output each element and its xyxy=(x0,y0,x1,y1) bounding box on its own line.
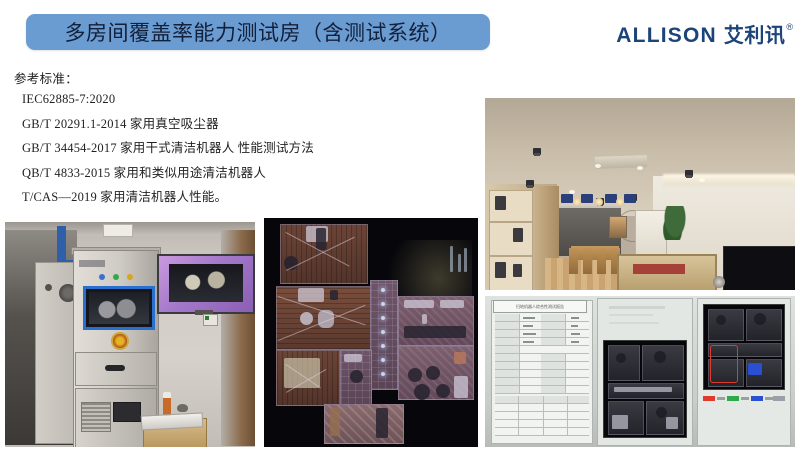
cleaning-robot xyxy=(713,276,725,288)
report-table-cell xyxy=(495,346,520,353)
slide-title-banner: 多房间覆盖率能力测试房（含测试系统） xyxy=(26,14,490,50)
lab-drawer-handle xyxy=(105,365,125,371)
report-table-cell xyxy=(495,322,520,329)
reference-standards-block: 参考标准： IEC62885-7:2020 GB/T 20291.1-2014 … xyxy=(14,68,434,211)
room-furniture xyxy=(330,408,340,436)
room-furniture xyxy=(422,314,427,324)
lab-indicator-green xyxy=(113,274,119,280)
path-waypoint xyxy=(381,316,385,320)
wall-artwork xyxy=(609,216,627,238)
report-subtable-divider xyxy=(543,420,544,427)
lab-pc-unit xyxy=(113,402,141,422)
report-table-cell xyxy=(495,386,520,393)
map-panel-header xyxy=(609,306,665,309)
pendant-lamp-icon xyxy=(573,198,581,206)
dining-chair xyxy=(583,248,592,274)
report-subtable-divider xyxy=(543,404,544,411)
report-table-cell xyxy=(541,330,566,337)
dining-chair xyxy=(597,248,606,274)
path-waypoint xyxy=(381,302,385,306)
path-waypoint xyxy=(381,330,385,334)
test-sandbox-surface xyxy=(633,264,685,274)
report-subtable-row xyxy=(495,428,589,436)
legend-swatch-coverage xyxy=(703,396,715,401)
ceiling-camera-icon xyxy=(526,180,534,187)
path-waypoint xyxy=(381,288,385,292)
room-furniture xyxy=(454,376,468,398)
legend-label-repeat xyxy=(741,397,749,400)
photo-report-display-wall: 扫地机器人综合性测试报告 xyxy=(485,296,795,447)
coverage-marker xyxy=(748,363,762,375)
legend-label-path xyxy=(765,397,773,400)
lab-wall-monitor xyxy=(157,254,255,314)
ceiling-camera-icon xyxy=(685,170,693,177)
shelf-product xyxy=(495,262,506,278)
report-subtable-divider xyxy=(518,428,519,435)
room-furniture-round xyxy=(300,312,313,325)
photo-showroom-interior xyxy=(485,98,795,290)
room-furniture xyxy=(376,408,388,438)
room-furniture-round xyxy=(436,384,450,398)
path-waypoint xyxy=(381,344,385,348)
path-waypoint xyxy=(381,358,385,362)
hanging-banner xyxy=(624,194,636,203)
report-table-cell xyxy=(495,362,520,369)
report-table-cell xyxy=(541,322,566,329)
showroom-cove-lighting xyxy=(663,174,795,186)
report-value-text xyxy=(571,317,579,319)
report-subtable-row xyxy=(495,404,589,412)
path-waypoint xyxy=(381,372,385,376)
pendant-lamp-icon xyxy=(616,198,624,206)
monitor-camera-feed xyxy=(169,264,243,302)
report-subtable-row xyxy=(495,412,589,420)
map-furniture xyxy=(612,415,628,429)
report-subtable-divider xyxy=(567,404,568,411)
photo-lab-cabinet xyxy=(5,222,255,447)
report-table-cell xyxy=(495,330,520,337)
room-furniture xyxy=(316,228,326,250)
room-furniture-round xyxy=(350,370,363,383)
light-streak xyxy=(450,246,453,272)
brand-latin-text: ALLISON xyxy=(616,25,717,46)
map-wall xyxy=(614,387,672,392)
standard-line: GB/T 20291.1-2014 家用真空吸尘器 xyxy=(22,113,434,132)
map-room xyxy=(608,345,640,381)
shelf-product xyxy=(513,228,523,242)
report-subtable-divider xyxy=(567,420,568,427)
report-table-cell xyxy=(541,314,566,321)
lab-viewing-window xyxy=(83,286,155,330)
legend-swatch-path xyxy=(751,396,763,401)
report-subtable-divider xyxy=(543,412,544,419)
hanging-plant xyxy=(663,206,687,240)
report-subtable-header xyxy=(495,396,589,404)
ceiling-downlight-icon xyxy=(637,166,643,170)
dining-chair xyxy=(569,248,578,274)
standards-heading: 参考标准： xyxy=(14,68,434,87)
shelf-product xyxy=(495,196,506,210)
legend-swatch-missed xyxy=(773,396,785,401)
brand-chinese-text: 艾利讯 xyxy=(724,26,786,46)
coverage-room xyxy=(708,309,744,341)
report-table-cell xyxy=(541,354,566,361)
emergency-stop-button xyxy=(111,332,129,350)
room-counter xyxy=(440,300,464,308)
room-furniture-round xyxy=(414,384,430,400)
wall-mounted-tv xyxy=(723,246,795,290)
map-room xyxy=(642,345,684,381)
report-coverage-screen xyxy=(703,304,785,390)
report-value-text xyxy=(523,341,534,343)
light-streak xyxy=(464,248,467,272)
report-value-text xyxy=(571,341,579,343)
room-counter xyxy=(404,300,434,308)
legend-label-coverage xyxy=(717,397,725,400)
report-subtable-row xyxy=(495,420,589,428)
report-table-title: 扫地机器人综合性测试报告 xyxy=(493,300,587,313)
ceiling-downlight-icon xyxy=(595,164,601,168)
room-furniture xyxy=(454,352,466,364)
room-counter xyxy=(404,326,466,338)
report-subtable-divider xyxy=(543,396,544,403)
lab-door-knob xyxy=(45,284,52,291)
standard-line: GB/T 34454-2017 家用干式清洁机器人 性能测试方法 xyxy=(22,137,434,156)
report-value-text xyxy=(571,333,580,335)
report-value-text xyxy=(523,333,536,335)
map-obstacle xyxy=(616,353,626,363)
page-title: 多房间覆盖率能力测试房（含测试系统） xyxy=(65,17,452,47)
hanging-banner xyxy=(561,194,573,203)
report-table-cell xyxy=(541,338,566,345)
lab-sign xyxy=(103,224,133,237)
map-panel-header xyxy=(609,314,653,316)
shelf-product xyxy=(513,264,522,277)
report-subtable-divider xyxy=(567,396,568,403)
lab-window-interior xyxy=(89,292,149,324)
lab-vent-grille xyxy=(81,402,111,432)
lab-cabinet-label xyxy=(79,260,105,267)
report-subtable-divider xyxy=(543,428,544,435)
report-subtable-divider xyxy=(518,420,519,427)
map-room xyxy=(646,401,684,435)
report-table-cell xyxy=(541,378,566,385)
lab-indicator-amber xyxy=(127,274,133,280)
display-shelf xyxy=(489,222,533,256)
report-subtable-divider xyxy=(518,404,519,411)
room-furniture-round xyxy=(426,366,440,380)
outlet-led-icon xyxy=(205,316,209,320)
light-streak xyxy=(458,254,461,272)
ceiling-downlight-icon xyxy=(699,178,705,182)
report-value-text xyxy=(571,325,578,327)
lab-indicator-blue xyxy=(99,274,105,280)
report-value-text xyxy=(523,317,535,319)
report-value-text xyxy=(523,325,533,327)
report-table-cell xyxy=(495,338,520,345)
standard-line: T/CAS—2019 家用清洁机器人性能。 xyxy=(22,186,434,205)
report-subtable-divider xyxy=(567,428,568,435)
water-bottle xyxy=(163,392,171,416)
photo-floorplan-topview xyxy=(264,218,478,447)
pendant-lamp-icon xyxy=(595,198,603,206)
report-table-cell xyxy=(541,362,566,369)
room-furniture xyxy=(330,290,338,300)
hanging-banner xyxy=(581,194,593,203)
report-subtable-divider xyxy=(518,396,519,403)
ceiling-camera-icon xyxy=(533,148,541,155)
standard-line: QB/T 4833-2015 家用和类似用途清洁机器人 xyxy=(22,162,434,181)
coverage-obstacle xyxy=(716,315,726,325)
report-table-cell xyxy=(495,370,520,377)
report-table-cell xyxy=(495,314,520,321)
registered-trademark-icon: ® xyxy=(786,22,793,32)
report-map-screen xyxy=(603,340,687,438)
report-subtable-divider xyxy=(518,412,519,419)
coverage-path-highlight xyxy=(710,345,738,383)
report-table-cell xyxy=(495,354,520,361)
report-subtable-divider xyxy=(567,412,568,419)
report-table-cell xyxy=(541,386,566,393)
room-furniture-round xyxy=(408,368,422,382)
legend-swatch-repeat xyxy=(727,396,739,401)
report-table-cell xyxy=(541,370,566,377)
map-obstacle xyxy=(654,351,666,363)
coverage-obstacle xyxy=(754,313,766,325)
map-panel-header xyxy=(609,322,659,324)
brand-logo: ALLISON 艾利讯 ® xyxy=(616,16,792,46)
room-furniture xyxy=(344,354,362,362)
room-furniture xyxy=(298,288,324,302)
standard-line: IEC62885-7:2020 xyxy=(22,92,434,107)
lab-mouse xyxy=(177,404,188,412)
map-furniture xyxy=(666,417,678,429)
report-table-cell xyxy=(495,378,520,385)
